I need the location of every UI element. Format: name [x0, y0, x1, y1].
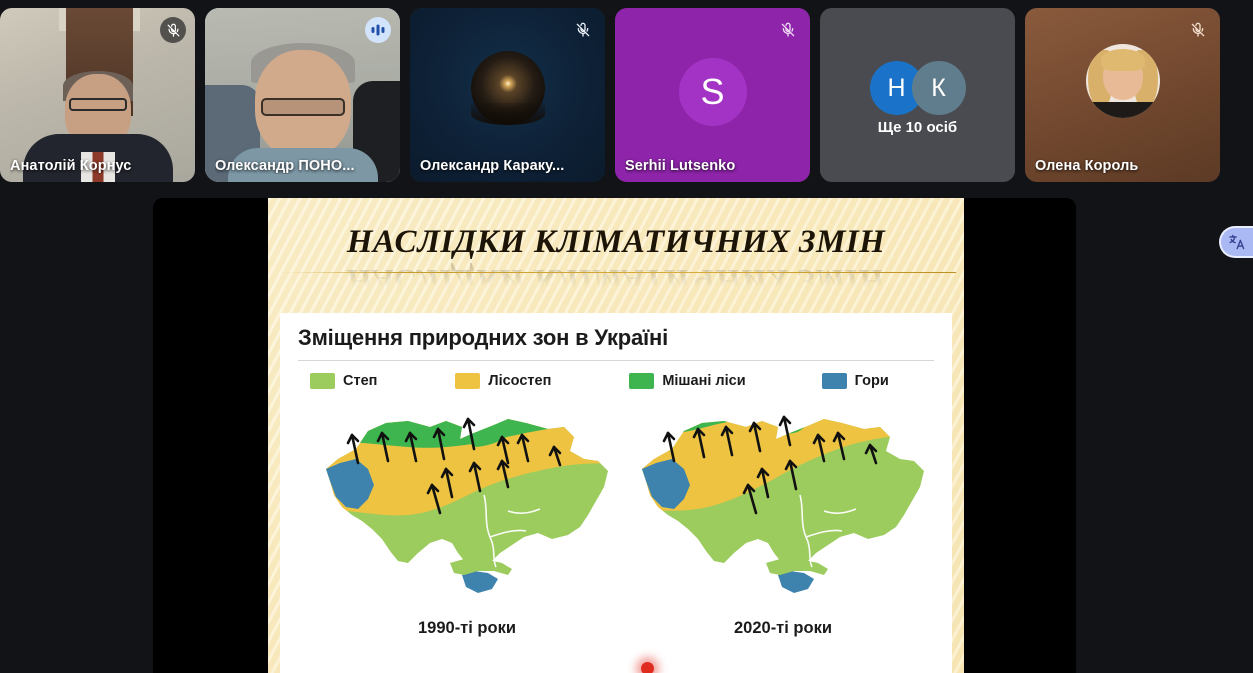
- mic-off-icon: [160, 17, 186, 43]
- mic-off-icon: [570, 17, 596, 43]
- legend-label: Лісостеп: [488, 373, 551, 389]
- avatar-initial: К: [912, 61, 966, 115]
- map-panel-2020s: 2020-ті роки: [628, 403, 938, 617]
- slide-title: НАСЛІДКИ КЛІМАТИЧНИХ ЗМІН: [268, 224, 964, 261]
- legend-swatch-mixed-forest: [629, 373, 654, 389]
- legend-item: Лісостеп: [455, 373, 551, 389]
- legend-swatch-forest-steppe: [455, 373, 480, 389]
- legend-item: Гори: [822, 373, 889, 389]
- infographic-card: Зміщення природних зон в Україні Степ Лі…: [280, 313, 952, 673]
- laser-pointer-dot: [641, 662, 654, 673]
- legend-label: Степ: [343, 373, 377, 389]
- chart-divider: [298, 360, 934, 361]
- presentation-slide: НАСЛІДКИ КЛІМАТИЧНИХ ЗМІН НАСЛІДКИ КЛІМА…: [268, 198, 964, 673]
- participant-name-4: Serhii Lutsenko: [625, 158, 784, 174]
- chart-legend: Степ Лісостеп Мішані ліси Гори: [298, 373, 934, 389]
- legend-label: Гори: [855, 373, 889, 389]
- map-panel-1990s: 1990-ті роки: [312, 403, 622, 617]
- participant-tile-3[interactable]: Олександр Караку...: [410, 8, 605, 182]
- ukraine-map-1990s: [312, 403, 622, 603]
- map-panels: 1990-ті роки: [298, 403, 934, 617]
- map-caption-2020s: 2020-ті роки: [628, 619, 938, 638]
- avatar-initial: S: [679, 58, 747, 126]
- mic-off-icon: [1185, 17, 1211, 43]
- translate-icon[interactable]: [1219, 226, 1253, 258]
- participant-name-6: Олена Король: [1035, 158, 1194, 174]
- participant-tile-2[interactable]: Олександр ПОНО...: [205, 8, 400, 182]
- participant-tile-6[interactable]: Олена Король: [1025, 8, 1220, 182]
- participant-name-2: Олександр ПОНО...: [215, 158, 374, 174]
- legend-swatch-mountains: [822, 373, 847, 389]
- ukraine-map-2020s: [628, 403, 938, 603]
- participant-tile-1[interactable]: Анатолій Корнус: [0, 8, 195, 182]
- participant-tile-overflow[interactable]: Н К Ще 10 осіб: [820, 8, 1015, 182]
- legend-swatch-steppe: [310, 373, 335, 389]
- zoom-meeting-window: Анатолій Корнус Олександр ПОНО...: [0, 0, 1253, 673]
- participant-filmstrip: Анатолій Корнус Олександр ПОНО...: [0, 0, 1253, 190]
- participant-name-3: Олександр Караку...: [420, 158, 579, 174]
- map-caption-1990s: 1990-ті роки: [312, 619, 622, 638]
- legend-item: Степ: [310, 373, 377, 389]
- audio-levels-icon: [365, 17, 391, 43]
- participant-tile-4[interactable]: S Serhii Lutsenko: [615, 8, 810, 182]
- overflow-label: Ще 10 осіб: [820, 119, 1015, 136]
- legend-label: Мішані ліси: [662, 373, 745, 389]
- participant-name-1: Анатолій Корнус: [10, 158, 169, 174]
- overflow-avatars: Н К Ще 10 осіб: [820, 8, 1015, 182]
- shared-screen-stage[interactable]: НАСЛІДКИ КЛІМАТИЧНИХ ЗМІН НАСЛІДКИ КЛІМА…: [153, 198, 1076, 673]
- legend-item: Мішані ліси: [629, 373, 745, 389]
- title-divider: [282, 272, 956, 273]
- chart-title: Зміщення природних зон в Україні: [298, 325, 934, 351]
- mic-off-icon: [775, 17, 801, 43]
